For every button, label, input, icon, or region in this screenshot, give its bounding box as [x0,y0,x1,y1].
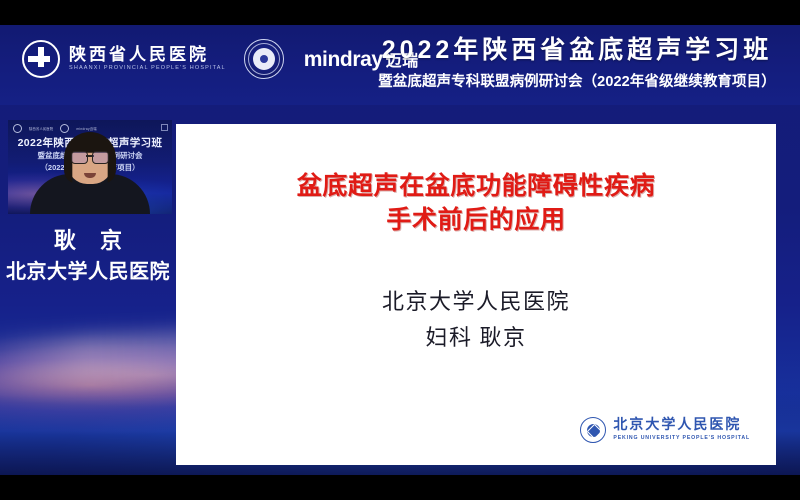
shaanxi-hospital-logo: 陕西省人民医院 SHAANXI PROVINCIAL PEOPLE'S HOSP… [22,40,226,78]
medical-cross-circle-icon [22,40,60,78]
glasses-lens-right [92,151,109,164]
video-corner-marker-icon [161,124,168,131]
peking-university-peoples-hospital-logo-icon [580,417,606,443]
slide-presenter-organization: 北京大学人民医院 [176,284,776,320]
screen-capture: 陕西省人民医院 SHAANXI PROVINCIAL PEOPLE'S HOSP… [0,0,800,500]
slide-footer-logo: 北京大学人民医院 PEKING UNIVERSITY PEOPLE'S HOSP… [580,417,750,443]
slide-title-line1: 盆底超声在盆底功能障碍性疾病 [176,170,776,204]
slide-footer-logo-text: 北京大学人民医院 PEKING UNIVERSITY PEOPLE'S HOSP… [613,418,750,441]
video-bg-hospital-icon [13,124,22,133]
slide-title: 盆底超声在盆底功能障碍性疾病 手术前后的应用 [176,170,776,237]
slide-footer-logo-en: PEKING UNIVERSITY PEOPLE'S HOSPITAL [613,436,750,442]
video-bg-mindray-icon [60,124,69,133]
presentation-slide[interactable]: 盆底超声在盆底功能障碍性疾病 手术前后的应用 北京大学人民医院 妇科 耿京 北京… [176,124,776,465]
conference-title-main: 2022年陕西省盆底超声学习班 [372,37,782,65]
mindray-name-en: mindray [304,48,383,72]
sponsor-logo-row: 陕西省人民医院 SHAANXI PROVINCIAL PEOPLE'S HOSP… [22,39,419,79]
conference-title-sub: 暨盆底超声专科联盟病例研讨会（2022年省级继续教育项目） [372,70,782,91]
video-bg-mindray-label: mindray迈瑞 [76,126,96,131]
video-bg-hospital-label: 陕西省人民医院 [29,126,53,131]
speaker-video-feed[interactable]: 陕西省人民医院 mindray迈瑞 2022年陕西省盆底超声学习班 暨盆底超声专… [8,120,172,214]
logo-glyph [587,423,603,439]
conference-title-block: 2022年陕西省盆底超声学习班 暨盆底超声专科联盟病例研讨会（2022年省级继续… [372,37,782,91]
shaanxi-hospital-name-cn: 陕西省人民医院 [69,46,226,63]
mindray-seal-icon [244,39,284,79]
slide-presenter-name: 妇科 耿京 [176,320,776,356]
conference-header-band: 陕西省人民医院 SHAANXI PROVINCIAL PEOPLE'S HOSP… [0,25,800,105]
speaker-panel: 陕西省人民医院 mindray迈瑞 2022年陕西省盆底超声学习班 暨盆底超声专… [0,105,176,475]
seal-inner [253,48,275,70]
slide-footer-logo-cn: 北京大学人民医院 [613,418,750,433]
video-background-logo-row: 陕西省人民医院 mindray迈瑞 [13,124,97,133]
slide-presenter-block: 北京大学人民医院 妇科 耿京 [176,284,776,357]
speaker-figure [30,142,150,214]
letterbox-bottom [0,475,800,500]
speaker-glasses-icon [71,151,109,162]
glasses-lens-left [71,151,88,164]
speaker-organization: 北京大学人民医院 [0,255,176,284]
letterbox-top [0,0,800,25]
slide-title-line2: 手术前后的应用 [176,204,776,238]
shaanxi-hospital-name-en: SHAANXI PROVINCIAL PEOPLE'S HOSPITAL [69,66,226,72]
speaker-name: 耿 京 [0,223,176,255]
shaanxi-hospital-name: 陕西省人民医院 SHAANXI PROVINCIAL PEOPLE'S HOSP… [69,46,226,72]
